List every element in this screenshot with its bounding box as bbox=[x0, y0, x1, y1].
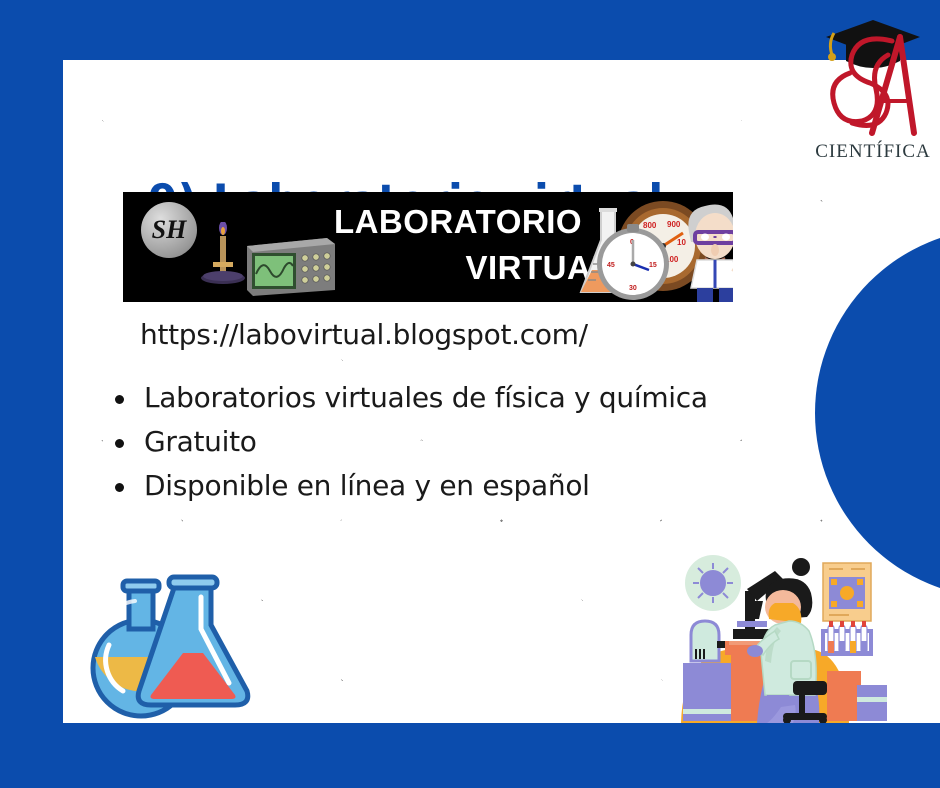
laboratorio-virtual-banner: SH bbox=[123, 192, 733, 302]
scientist-microscope-illustration bbox=[671, 545, 891, 723]
sa-monogram-icon bbox=[814, 3, 932, 153]
stopwatch-icon: 0 15 30 45 bbox=[593, 222, 673, 302]
list-item: Gratuito bbox=[111, 420, 708, 464]
sh-monogram-icon: SH bbox=[141, 202, 197, 258]
list-item: Disponible en línea y en español bbox=[111, 464, 708, 508]
svg-text:30: 30 bbox=[629, 285, 637, 292]
frame-left-bar bbox=[0, 0, 63, 788]
site-url[interactable]: https://labovirtual.blogspot.com/ bbox=[140, 318, 588, 351]
list-item: Laboratorios virtuales de física y quími… bbox=[111, 376, 708, 420]
frame-bottom-bar bbox=[63, 723, 940, 788]
svg-text:15: 15 bbox=[649, 262, 657, 269]
cientifica-logo: CIENTÍFICA bbox=[814, 3, 932, 165]
logo-wordmark: CIENTÍFICA bbox=[814, 141, 932, 163]
lab-flasks-illustration bbox=[79, 563, 269, 723]
svg-text:45: 45 bbox=[607, 262, 615, 269]
banner-title-line2: VIRTUAL bbox=[298, 245, 618, 291]
cartoon-scientist-icon bbox=[671, 198, 733, 302]
instrument-cabinet-icon bbox=[683, 621, 731, 721]
slide-root: 9)Laboratorio virtual SH bbox=[0, 0, 940, 788]
decorative-blue-circle bbox=[815, 228, 940, 598]
feature-bullet-list: Laboratorios virtuales de física y quími… bbox=[111, 376, 708, 508]
virus-icon bbox=[693, 563, 733, 603]
banner-title: LABORATORIO VIRTUAL bbox=[298, 199, 618, 291]
side-cabinet-icon bbox=[827, 671, 887, 721]
slide-canvas: 9)Laboratorio virtual SH bbox=[63, 60, 940, 723]
test-tube-rack-icon bbox=[821, 621, 873, 656]
sample-poster-icon bbox=[823, 563, 871, 621]
frame-top-bar bbox=[63, 0, 940, 60]
banner-title-line1: LABORATORIO bbox=[334, 203, 582, 240]
